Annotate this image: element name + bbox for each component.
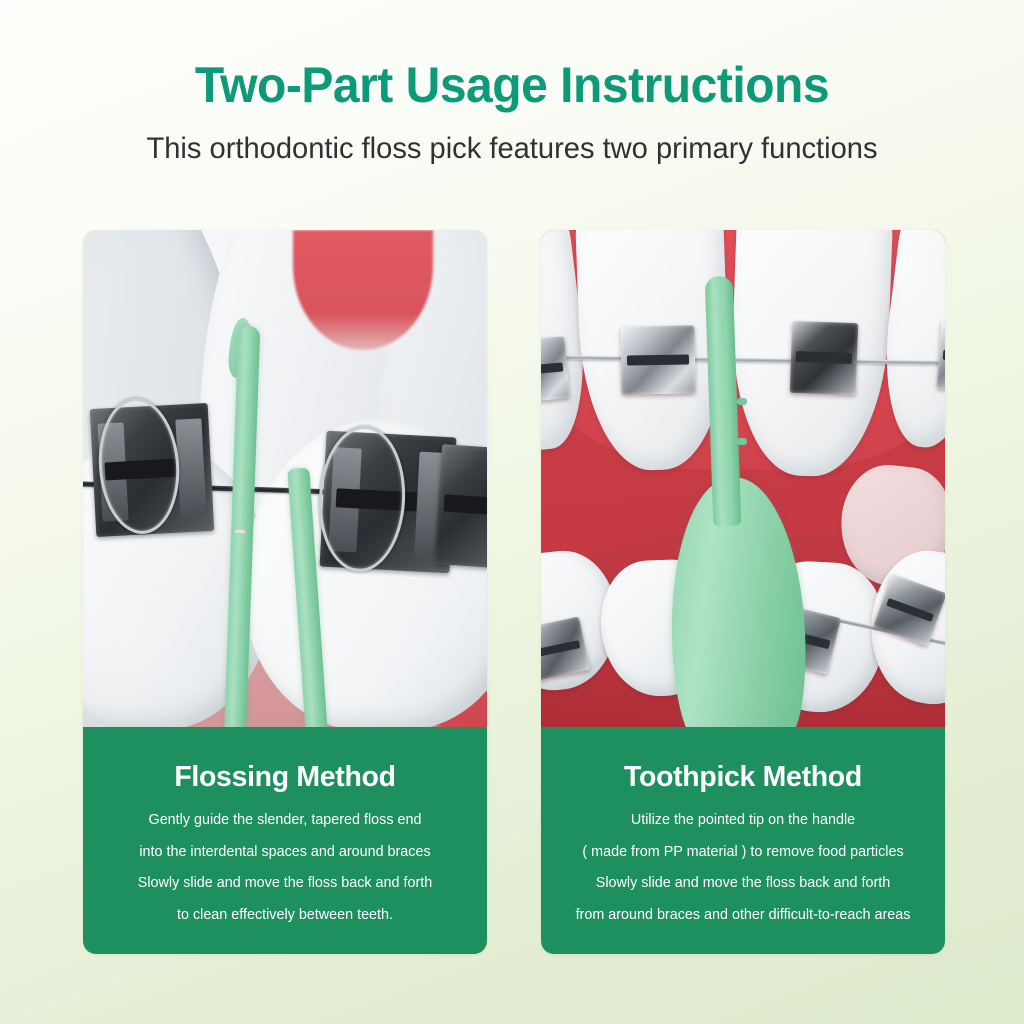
description-line: into the interdental spaces and around b… [101, 845, 469, 860]
dental-model-illustration [541, 230, 945, 727]
toothpick-method-caption: Toothpick Method Utilize the pointed tip… [541, 727, 945, 954]
page-subtitle: This orthodontic floss pick features two… [15, 132, 1008, 167]
flossing-method-photo [83, 230, 487, 727]
card-toothpick-method: Toothpick Method Utilize the pointed tip… [541, 230, 945, 954]
description-line: to clean effectively between teeth. [101, 908, 469, 923]
description-line: ( made from PP material ) to remove food… [559, 845, 927, 860]
bracket-icon [620, 325, 695, 394]
card-title: Flossing Method [103, 761, 468, 794]
bracket-icon [434, 444, 487, 568]
description-line: from around braces and other difficult-t… [559, 908, 927, 923]
header: Two-Part Usage Instructions This orthodo… [0, 0, 1024, 167]
promo-page: Two-Part Usage Instructions This orthodo… [0, 0, 1024, 1024]
braces-closeup-illustration [83, 230, 487, 727]
bracket-icon [790, 321, 858, 395]
description-line: Slowly slide and move the floss back and… [101, 876, 469, 891]
card-description: Utilize the pointed tip on the handle ( … [557, 813, 929, 922]
method-cards: Flossing Method Gently guide the slender… [83, 230, 945, 954]
description-line: Slowly slide and move the floss back and… [559, 876, 927, 891]
description-line: Gently guide the slender, tapered floss … [101, 813, 469, 828]
description-line: Utilize the pointed tip on the handle [559, 813, 927, 828]
card-title: Toothpick Method [561, 761, 926, 794]
page-title: Two-Part Usage Instructions [20, 58, 1003, 112]
toothpick-notch [737, 438, 747, 445]
flossing-method-caption: Flossing Method Gently guide the slender… [83, 727, 487, 954]
card-flossing-method: Flossing Method Gently guide the slender… [83, 230, 487, 954]
card-description: Gently guide the slender, tapered floss … [99, 813, 471, 922]
toothpick-method-photo [541, 230, 945, 727]
toothpick-notch [737, 398, 747, 405]
